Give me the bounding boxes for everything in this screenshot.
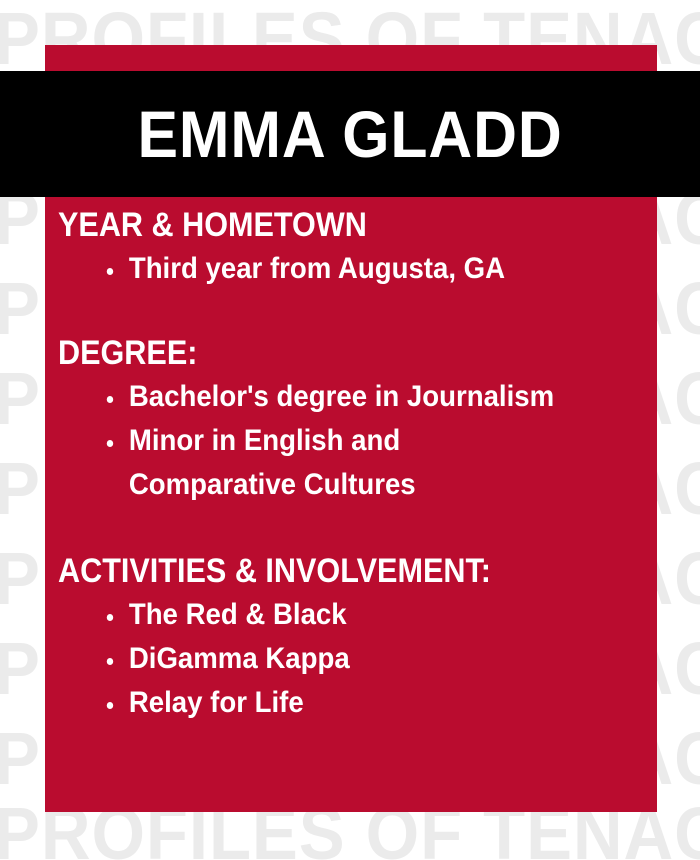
list-item-text: Bachelor's degree in Journalism <box>129 380 554 413</box>
list-item: Relay for Life <box>104 681 614 725</box>
profile-poster: PROFILES OF TENACITY PROFILES OF TENACIT… <box>0 0 700 860</box>
list-item-text: DiGamma Kappa <box>129 642 350 675</box>
profile-name: EMMA GLADD <box>137 101 562 167</box>
section-heading-degree: DEGREE: <box>58 333 598 373</box>
list-item-text: Third year from Augusta, GA <box>129 252 505 285</box>
list-item: The Red & Black <box>104 593 614 637</box>
section-activities: ACTIVITIES & INVOLVEMENT: The Red & Blac… <box>58 551 658 725</box>
section-heading-activities: ACTIVITIES & INVOLVEMENT: <box>58 551 598 591</box>
section-spacer <box>58 317 658 333</box>
list-item: Minor in English and Comparative Culture… <box>104 419 614 507</box>
bullet-list-degree: Bachelor's degree in Journalism Minor in… <box>58 375 658 507</box>
section-year-hometown: YEAR & HOMETOWN Third year from Augusta,… <box>58 205 658 291</box>
section-heading-year-hometown: YEAR & HOMETOWN <box>58 205 598 245</box>
list-item: Third year from Augusta, GA <box>104 247 614 291</box>
profile-details: YEAR & HOMETOWN Third year from Augusta,… <box>58 205 658 725</box>
bullet-list-year-hometown: Third year from Augusta, GA <box>58 247 658 291</box>
bullet-list-activities: The Red & Black DiGamma Kappa Relay for … <box>58 593 658 725</box>
list-item-text: Minor in English and <box>129 424 400 457</box>
list-item: Bachelor's degree in Journalism <box>104 375 614 419</box>
list-item: DiGamma Kappa <box>104 637 614 681</box>
section-spacer <box>58 533 658 551</box>
name-banner: EMMA GLADD <box>0 71 700 197</box>
list-item-text: Relay for Life <box>129 686 304 719</box>
section-degree: DEGREE: Bachelor's degree in Journalism … <box>58 333 658 507</box>
list-item-text-wrap: Comparative Cultures <box>129 463 614 507</box>
list-item-text: The Red & Black <box>129 598 347 631</box>
